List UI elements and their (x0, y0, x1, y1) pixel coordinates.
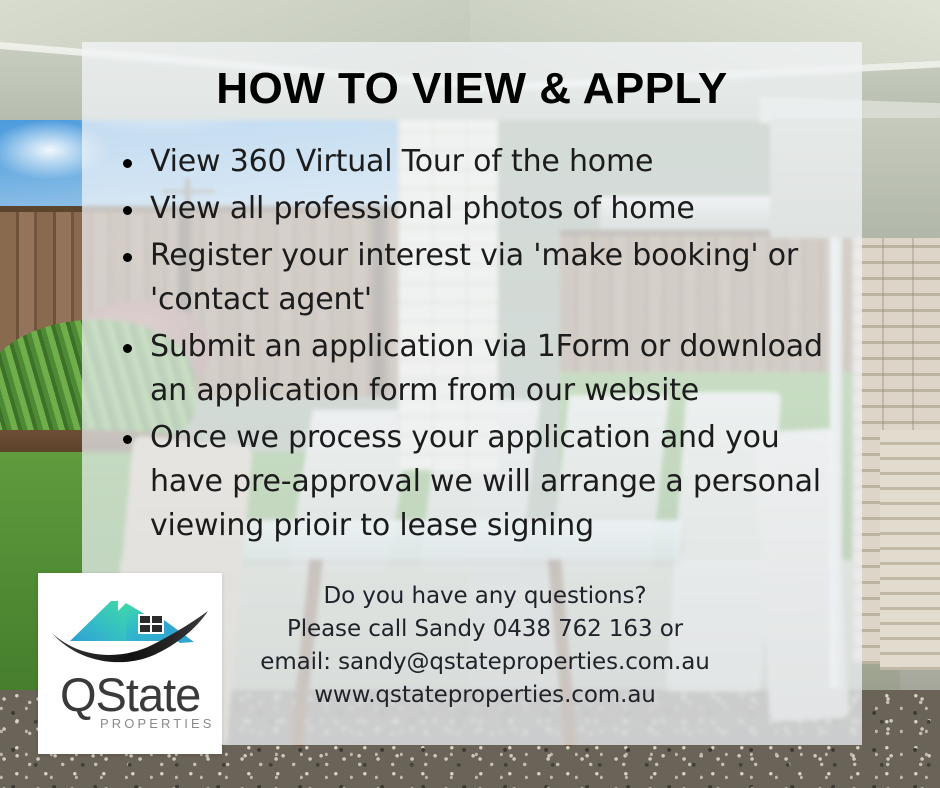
house-roof-icon (48, 587, 212, 663)
list-item: Register your interest via 'make booking… (118, 234, 848, 322)
contact-email[interactable]: email: sandy@qstateproperties.com.au (180, 646, 790, 679)
list-item: Once we process your application and you… (118, 416, 848, 548)
contact-website[interactable]: www.qstateproperties.com.au (180, 679, 790, 712)
logo-card: QState PROPERTIES (38, 573, 222, 754)
list-item: View all professional photos of home (118, 187, 848, 231)
brick-wall-low (880, 430, 940, 670)
svg-text:PROPERTIES: PROPERTIES (100, 716, 215, 731)
contact-phone: Please call Sandy 0438 762 163 or (180, 613, 790, 646)
logo-wordmark: QState PROPERTIES (38, 665, 222, 735)
instruction-list: View 360 Virtual Tour of the home View a… (118, 140, 848, 551)
list-item: View 360 Virtual Tour of the home (118, 140, 848, 184)
contact-block: Do you have any questions? Please call S… (180, 580, 790, 712)
svg-text:QState: QState (60, 668, 200, 721)
page-title: HOW TO VIEW & APPLY (82, 64, 862, 114)
flyer-canvas: HOW TO VIEW & APPLY View 360 Virtual Tou… (0, 0, 940, 788)
contact-question: Do you have any questions? (180, 580, 790, 613)
list-item: Submit an application via 1Form or downl… (118, 325, 848, 413)
